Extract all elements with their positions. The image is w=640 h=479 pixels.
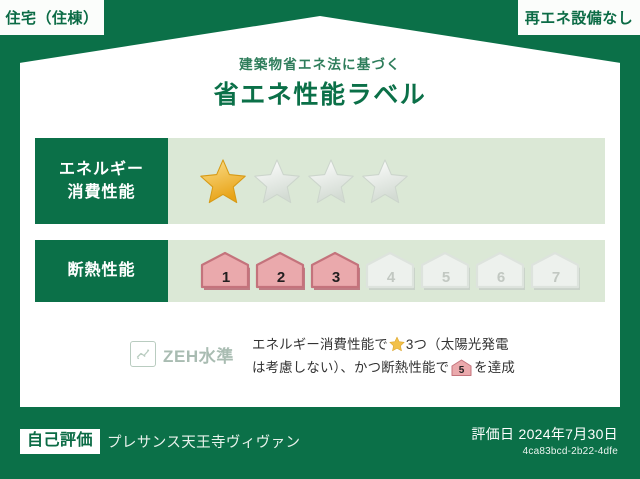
energy-performance-label: エネルギー 消費性能	[35, 138, 168, 224]
self-evaluation-badge: 自己評価	[20, 429, 100, 454]
tag-renewable-energy-label: 再エネ設備なし	[525, 7, 634, 28]
zeh-block: ZEH水準 エネルギー消費性能で3つ（太陽光発電 は考慮しない）、かつ断熱性能で…	[35, 333, 605, 379]
insulation-level-number: 4	[365, 270, 417, 285]
inline-house-icon: 5	[451, 359, 472, 376]
title-subtitle: 建築物省エネ法に基づく	[0, 56, 640, 74]
insulation-performance-row: 断熱性能 1234567	[35, 240, 605, 302]
page-title: 省エネ性能ラベル	[0, 80, 640, 110]
footer-right: 評価日 2024年7月30日 4ca83bcd-2b22-4dfe	[471, 425, 618, 457]
inline-star-icon	[389, 336, 405, 352]
insulation-level-scale: 1234567	[200, 251, 585, 291]
insulation-level-number: 5	[420, 270, 472, 285]
title-block: 建築物省エネ法に基づく 省エネ性能ラベル	[0, 56, 640, 110]
insulation-level-number: 2	[255, 270, 307, 285]
star-empty-icon	[308, 158, 354, 204]
insulation-level-6: 6	[475, 251, 527, 291]
insulation-level-3: 3	[310, 251, 362, 291]
insulation-level-number: 6	[475, 270, 527, 285]
zeh-chart-icon	[130, 341, 156, 367]
insulation-level-number: 1	[200, 270, 252, 285]
energy-performance-label-line2: 消費性能	[67, 181, 135, 204]
inline-house-level: 5	[451, 366, 472, 376]
zeh-description-line2-a: は考慮しない）、かつ断熱性能で	[252, 360, 449, 375]
evaluation-date-label: 評価日	[471, 426, 514, 442]
evaluation-date: 評価日 2024年7月30日	[471, 425, 618, 443]
zeh-description: エネルギー消費性能で3つ（太陽光発電 は考慮しない）、かつ断熱性能で5を達成	[252, 333, 605, 379]
insulation-performance-label: 断熱性能	[35, 240, 168, 302]
tag-renewable-energy: 再エネ設備なし	[518, 0, 640, 35]
building-name: プレサンス天王寺ヴィヴァン	[107, 431, 300, 452]
insulation-level-4: 4	[365, 251, 417, 291]
zeh-badge-label: ZEH水準	[163, 342, 234, 367]
evaluation-id: 4ca83bcd-2b22-4dfe	[471, 446, 618, 457]
tag-building-type-label: 住宅（住棟）	[5, 7, 98, 28]
star-empty-icon	[254, 158, 300, 204]
zeh-description-line1-a: エネルギー消費性能で	[252, 337, 388, 352]
star-rating	[168, 138, 605, 224]
star-filled-icon	[200, 158, 246, 204]
star-empty-icon	[362, 158, 408, 204]
insulation-level-1: 1	[200, 251, 252, 291]
footer-left: 自己評価 プレサンス天王寺ヴィヴァン	[20, 429, 300, 454]
energy-performance-label: 住宅（住棟） 再エネ設備なし 建築物省エネ法に基づく 省エネ性能ラベル エネルギ…	[0, 0, 640, 479]
insulation-level-number: 7	[530, 270, 582, 285]
zeh-badge: ZEH水準	[35, 333, 234, 367]
footer: 自己評価 プレサンス天王寺ヴィヴァン 評価日 2024年7月30日 4ca83b…	[0, 407, 640, 479]
insulation-level-2: 2	[255, 251, 307, 291]
insulation-level-number: 3	[310, 270, 362, 285]
evaluation-date-value: 2024年7月30日	[518, 426, 618, 442]
energy-performance-row: エネルギー 消費性能	[35, 138, 605, 224]
tag-building-type: 住宅（住棟）	[0, 0, 104, 35]
zeh-description-line2-b: を達成	[474, 360, 515, 375]
insulation-level-7: 7	[530, 251, 582, 291]
energy-performance-label-line1: エネルギー	[59, 158, 144, 181]
zeh-description-line1-b: 3つ（太陽光発電	[406, 337, 509, 352]
insulation-performance-label-text: 断熱性能	[67, 259, 135, 282]
insulation-level-5: 5	[420, 251, 472, 291]
